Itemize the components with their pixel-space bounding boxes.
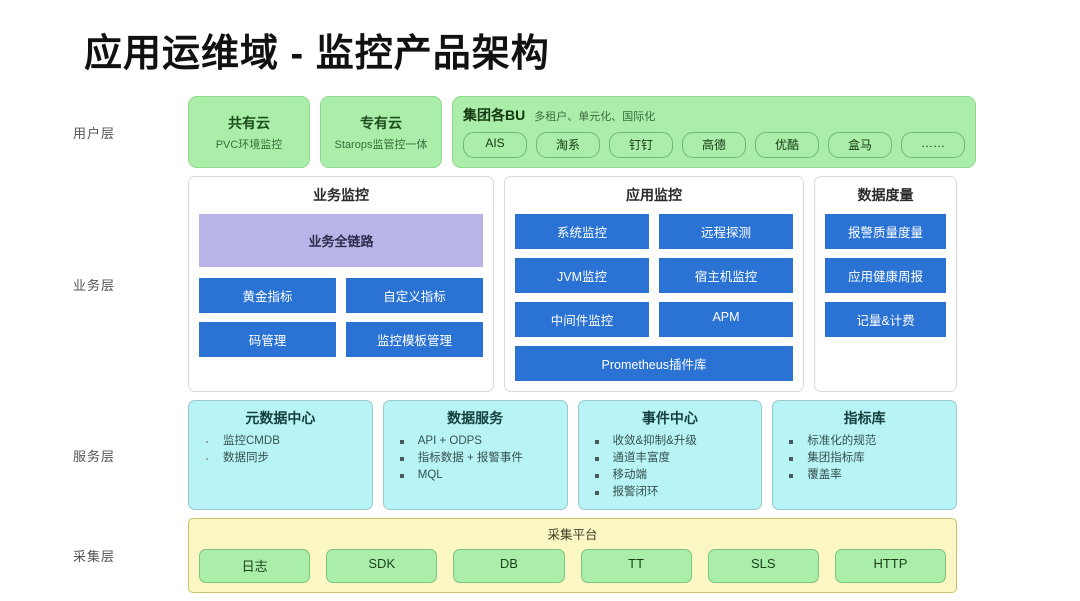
page-title: 应用运维域 - 监控产品架构 (84, 22, 550, 77)
list-item: 数据同步 (197, 450, 364, 467)
card-title: 共有云 (228, 113, 270, 133)
collect-chip-tt[interactable]: TT (581, 549, 692, 583)
panel-title: 应用监控 (515, 185, 793, 205)
bu-title: 集团各BU (463, 105, 525, 125)
panel-item-list: 标准化的规范 集团指标库 覆盖率 (781, 433, 948, 484)
collection-chip-list: 日志 SDK DB TT SLS HTTP (199, 549, 946, 583)
bu-subtitle: 多租户、单元化、国际化 (534, 108, 655, 124)
bu-chip-ais[interactable]: AIS (463, 132, 527, 158)
panel-group-bu: 集团各BU 多租户、单元化、国际化 AIS 淘系 钉钉 高德 优酷 盒马 …… (452, 96, 976, 168)
button-app-health-weekly[interactable]: 应用健康周报 (825, 258, 946, 293)
row-content-business: 业务监控 业务全链路 黄金指标 自定义指标 码管理 监控模板管理 应用监控 系统… (188, 176, 1080, 392)
button-grid: 系统监控 远程探测 JVM监控 宿主机监控 中间件监控 APM (515, 214, 793, 337)
list-item: 收敛&抑制&升级 (587, 433, 754, 450)
card-title: 专有云 (360, 113, 402, 133)
button-grid: 报警质量度量 应用健康周报 记量&计费 (825, 214, 946, 337)
button-code-management[interactable]: 码管理 (199, 322, 336, 357)
list-item: 报警闭环 (587, 484, 754, 501)
collect-chip-sls[interactable]: SLS (708, 549, 819, 583)
collect-chip-log[interactable]: 日志 (199, 549, 310, 583)
panel-application-monitoring: 应用监控 系统监控 远程探测 JVM监控 宿主机监控 中间件监控 APM Pro… (504, 176, 804, 392)
bu-header: 集团各BU 多租户、单元化、国际化 (463, 105, 965, 125)
panel-metric-library: 指标库 标准化的规范 集团指标库 覆盖率 (772, 400, 957, 510)
architecture-diagram: 用户层 共有云 PVC环境监控 专有云 Starops监管控一体 集团各BU 多… (0, 96, 1080, 601)
list-item: 监控CMDB (197, 433, 364, 450)
panel-title: 业务监控 (199, 185, 483, 205)
panel-title: 采集平台 (199, 524, 946, 543)
banner-full-link[interactable]: 业务全链路 (199, 214, 483, 267)
card-subtitle: Starops监管控一体 (335, 136, 428, 152)
collect-chip-db[interactable]: DB (453, 549, 564, 583)
panel-business-monitoring: 业务监控 业务全链路 黄金指标 自定义指标 码管理 监控模板管理 (188, 176, 494, 392)
list-item: 移动端 (587, 467, 754, 484)
collect-chip-http[interactable]: HTTP (835, 549, 946, 583)
panel-data-service: 数据服务 API + ODPS 指标数据 + 报警事件 MQL (383, 400, 568, 510)
card-dedicated-cloud[interactable]: 专有云 Starops监管控一体 (320, 96, 442, 168)
button-host-monitoring[interactable]: 宿主机监控 (659, 258, 793, 293)
row-label-business: 业务层 (0, 176, 188, 392)
panel-collection-platform: 采集平台 日志 SDK DB TT SLS HTTP (188, 518, 957, 593)
button-custom-metrics[interactable]: 自定义指标 (346, 278, 483, 313)
bu-chip-taoxi[interactable]: 淘系 (536, 132, 600, 158)
panel-item-list: 监控CMDB 数据同步 (197, 433, 364, 467)
panel-title: 数据服务 (392, 408, 559, 428)
row-label-user: 用户层 (0, 96, 188, 168)
button-apm[interactable]: APM (659, 302, 793, 337)
panel-item-list: API + ODPS 指标数据 + 报警事件 MQL (392, 433, 559, 484)
row-content-collect: 采集平台 日志 SDK DB TT SLS HTTP (188, 518, 1080, 593)
button-grid: 黄金指标 自定义指标 码管理 监控模板管理 (199, 278, 483, 357)
list-item: 指标数据 + 报警事件 (392, 450, 559, 467)
list-item: API + ODPS (392, 433, 559, 450)
button-middleware-monitoring[interactable]: 中间件监控 (515, 302, 649, 337)
button-template-management[interactable]: 监控模板管理 (346, 322, 483, 357)
panel-title: 元数据中心 (197, 408, 364, 428)
row-user-layer: 用户层 共有云 PVC环境监控 专有云 Starops监管控一体 集团各BU 多… (0, 96, 1080, 168)
bu-chip-hema[interactable]: 盒马 (828, 132, 892, 158)
panel-item-list: 收敛&抑制&升级 通道丰富度 移动端 报警闭环 (587, 433, 754, 501)
list-item: 覆盖率 (781, 467, 948, 484)
button-prometheus-plugin-library[interactable]: Prometheus插件库 (515, 346, 793, 381)
row-business-layer: 业务层 业务监控 业务全链路 黄金指标 自定义指标 码管理 监控模板管理 应用监… (0, 176, 1080, 392)
card-subtitle: PVC环境监控 (216, 136, 283, 152)
panel-title: 指标库 (781, 408, 948, 428)
panel-data-measurement: 数据度量 报警质量度量 应用健康周报 记量&计费 (814, 176, 957, 392)
row-label-service: 服务层 (0, 400, 188, 510)
row-label-collect: 采集层 (0, 518, 188, 593)
button-metering-billing[interactable]: 记量&计费 (825, 302, 946, 337)
bu-chip-list: AIS 淘系 钉钉 高德 优酷 盒马 …… (463, 132, 965, 158)
panel-event-center: 事件中心 收敛&抑制&升级 通道丰富度 移动端 报警闭环 (578, 400, 763, 510)
button-system-monitoring[interactable]: 系统监控 (515, 214, 649, 249)
bu-chip-gaode[interactable]: 高德 (682, 132, 746, 158)
list-item: 通道丰富度 (587, 450, 754, 467)
list-item: 标准化的规范 (781, 433, 948, 450)
button-remote-probe[interactable]: 远程探测 (659, 214, 793, 249)
panel-title: 数据度量 (825, 185, 946, 205)
bu-chip-youku[interactable]: 优酷 (755, 132, 819, 158)
button-alert-quality-measure[interactable]: 报警质量度量 (825, 214, 946, 249)
panel-title: 事件中心 (587, 408, 754, 428)
row-collect-layer: 采集层 采集平台 日志 SDK DB TT SLS HTTP (0, 518, 1080, 593)
bu-chip-dingding[interactable]: 钉钉 (609, 132, 673, 158)
collect-chip-sdk[interactable]: SDK (326, 549, 437, 583)
button-golden-metrics[interactable]: 黄金指标 (199, 278, 336, 313)
card-public-cloud[interactable]: 共有云 PVC环境监控 (188, 96, 310, 168)
row-service-layer: 服务层 元数据中心 监控CMDB 数据同步 数据服务 API + ODPS 指标… (0, 400, 1080, 510)
list-item: 集团指标库 (781, 450, 948, 467)
button-jvm-monitoring[interactable]: JVM监控 (515, 258, 649, 293)
panel-metadata-center: 元数据中心 监控CMDB 数据同步 (188, 400, 373, 510)
row-content-service: 元数据中心 监控CMDB 数据同步 数据服务 API + ODPS 指标数据 +… (188, 400, 1080, 510)
row-content-user: 共有云 PVC环境监控 专有云 Starops监管控一体 集团各BU 多租户、单… (188, 96, 1080, 168)
bu-chip-more[interactable]: …… (901, 132, 965, 158)
list-item: MQL (392, 467, 559, 484)
